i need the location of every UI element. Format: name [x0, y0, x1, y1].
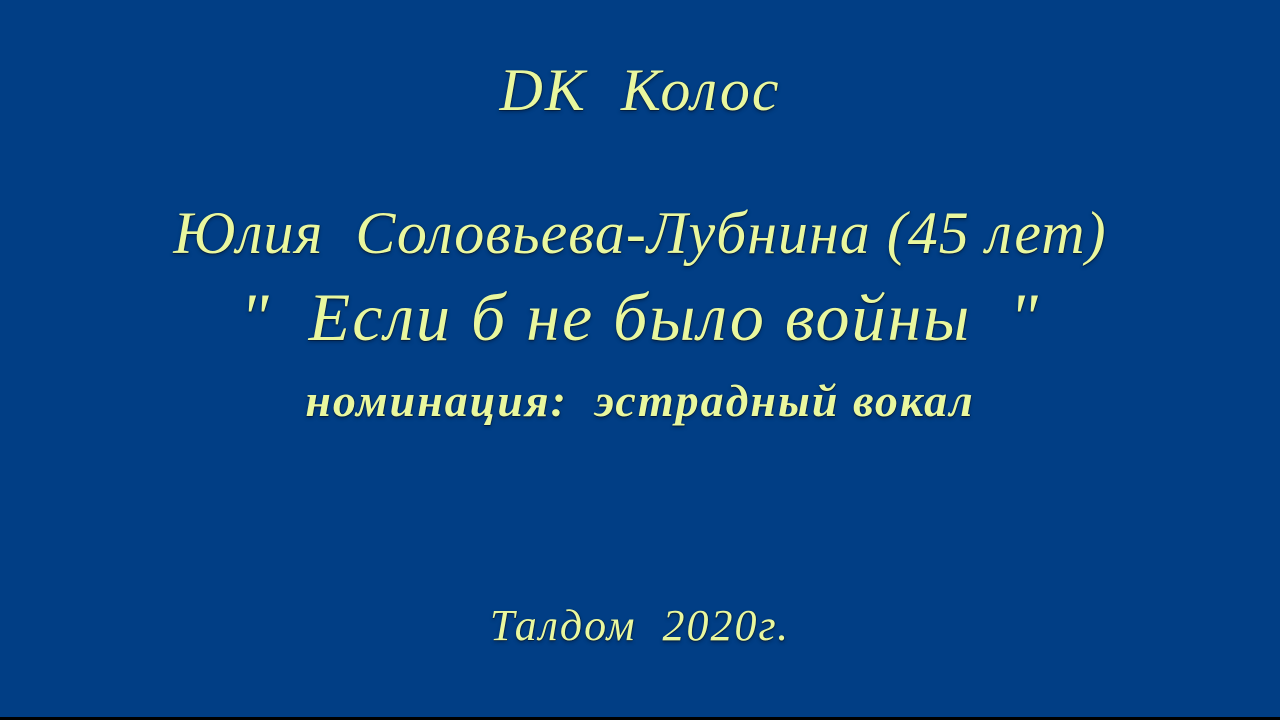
place-and-year: Талдом 2020г.: [0, 604, 1280, 648]
performer-name: Юлия Соловьева-Лубнина (45 лет): [0, 203, 1280, 263]
video-title-card: DK Колос Юлия Соловьева-Лубнина (45 лет)…: [0, 0, 1280, 720]
slide-background: DK Колос Юлия Соловьева-Лубнина (45 лет)…: [0, 0, 1280, 717]
nomination-category: номинация: эстрадный вокал: [0, 378, 1280, 424]
song-title: " Если б не было войны ": [0, 283, 1280, 351]
venue-title: DK Колос: [0, 60, 1280, 120]
